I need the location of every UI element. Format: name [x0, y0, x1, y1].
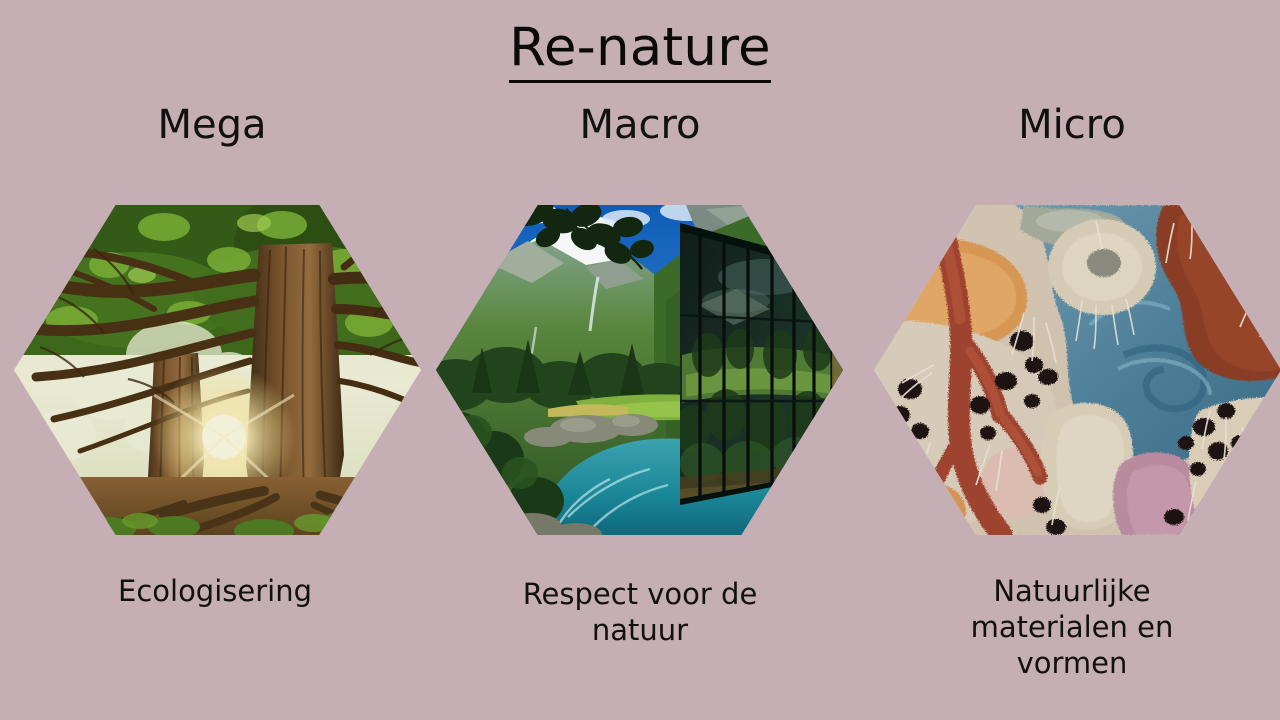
tufted-textile-art-photo — [874, 205, 1280, 535]
hexagon-image-mega — [14, 205, 421, 535]
column-macro: Macro — [424, 0, 856, 720]
column-caption-mega: Ecologisering — [0, 573, 431, 609]
column-caption-macro: Respect voor de natuur — [424, 576, 856, 648]
column-heading-macro: Macro — [424, 100, 856, 150]
column-micro: Micro — [848, 0, 1280, 720]
column-mega: Mega — [0, 0, 432, 720]
hexagon-image-macro — [436, 205, 843, 535]
slide-canvas: Re-nature Mega — [0, 0, 1280, 720]
glass-building-fjord-landscape-photo — [436, 205, 843, 535]
hexagon-image-micro — [874, 205, 1280, 535]
ancient-trees-sunlight-photo — [14, 205, 421, 535]
column-caption-micro: Natuurlijke materialen en vormen — [856, 573, 1280, 681]
column-heading-mega: Mega — [0, 100, 428, 150]
column-heading-micro: Micro — [856, 100, 1280, 150]
